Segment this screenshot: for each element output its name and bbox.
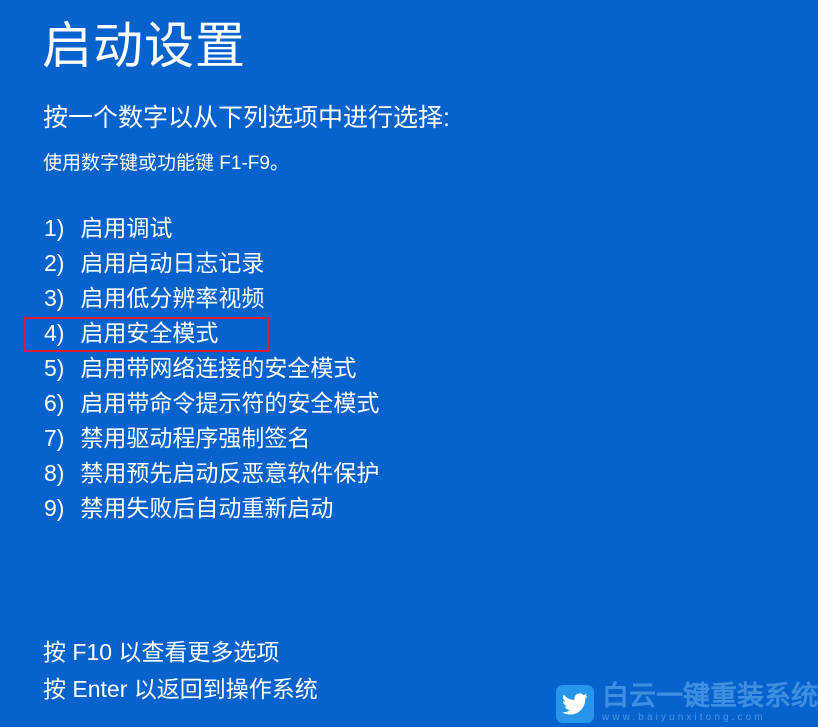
footer-hint-f10: 按 F10 以查看更多选项 bbox=[43, 634, 318, 671]
bird-icon bbox=[556, 685, 594, 723]
option-number-6: 6) bbox=[44, 386, 74, 421]
option-item-6[interactable]: 6) 启用带命令提示符的安全模式 bbox=[44, 386, 379, 421]
option-item-9[interactable]: 9) 禁用失败后自动重新启动 bbox=[44, 491, 379, 526]
option-label-8: 禁用预先启动反恶意软件保护 bbox=[80, 460, 379, 486]
option-item-3[interactable]: 3) 启用低分辨率视频 bbox=[44, 281, 379, 316]
watermark: 白云一键重装系统 www.baiyunxitong.com bbox=[556, 680, 818, 727]
option-number-3: 3) bbox=[44, 281, 74, 316]
option-item-1[interactable]: 1) 启用调试 bbox=[44, 211, 379, 246]
option-number-7: 7) bbox=[44, 421, 74, 456]
footer-hint-enter: 按 Enter 以返回到操作系统 bbox=[43, 671, 318, 708]
option-number-4: 4) bbox=[44, 316, 74, 351]
option-number-9: 9) bbox=[44, 491, 74, 526]
watermark-brand: 白云一键重装系统 bbox=[602, 683, 818, 710]
option-item-7[interactable]: 7) 禁用驱动程序强制签名 bbox=[44, 421, 379, 456]
intro-primary-text: 按一个数字以从下列选项中进行选择: bbox=[43, 102, 450, 135]
page-title: 启动设置 bbox=[42, 16, 246, 76]
intro-secondary-text: 使用数字键或功能键 F1-F9。 bbox=[43, 152, 289, 177]
startup-options-list: 1) 启用调试 2) 启用启动日志记录 3) 启用低分辨率视频 4) 启用安全模… bbox=[44, 211, 379, 526]
option-number-2: 2) bbox=[44, 246, 74, 281]
option-label-3: 启用低分辨率视频 bbox=[80, 285, 264, 311]
watermark-url: www.baiyunxitong.com bbox=[602, 711, 818, 725]
option-label-7: 禁用驱动程序强制签名 bbox=[80, 425, 310, 451]
option-item-2[interactable]: 2) 启用启动日志记录 bbox=[44, 246, 379, 281]
option-label-5: 启用带网络连接的安全模式 bbox=[80, 355, 356, 381]
option-number-8: 8) bbox=[44, 456, 74, 491]
watermark-text: 白云一键重装系统 www.baiyunxitong.com bbox=[602, 683, 818, 725]
option-label-9: 禁用失败后自动重新启动 bbox=[80, 495, 333, 521]
option-item-4[interactable]: 4) 启用安全模式 bbox=[44, 316, 379, 351]
option-number-1: 1) bbox=[44, 211, 74, 246]
option-item-5[interactable]: 5) 启用带网络连接的安全模式 bbox=[44, 351, 379, 386]
option-label-6: 启用带命令提示符的安全模式 bbox=[80, 390, 379, 416]
option-number-5: 5) bbox=[44, 351, 74, 386]
option-label-1: 启用调试 bbox=[80, 215, 172, 241]
footer-hints: 按 F10 以查看更多选项 按 Enter 以返回到操作系统 bbox=[43, 634, 318, 708]
startup-settings-screen: 启动设置 按一个数字以从下列选项中进行选择: 使用数字键或功能键 F1-F9。 … bbox=[0, 0, 818, 727]
option-label-2: 启用启动日志记录 bbox=[80, 250, 264, 276]
option-item-8[interactable]: 8) 禁用预先启动反恶意软件保护 bbox=[44, 456, 379, 491]
option-label-4: 启用安全模式 bbox=[80, 320, 218, 346]
